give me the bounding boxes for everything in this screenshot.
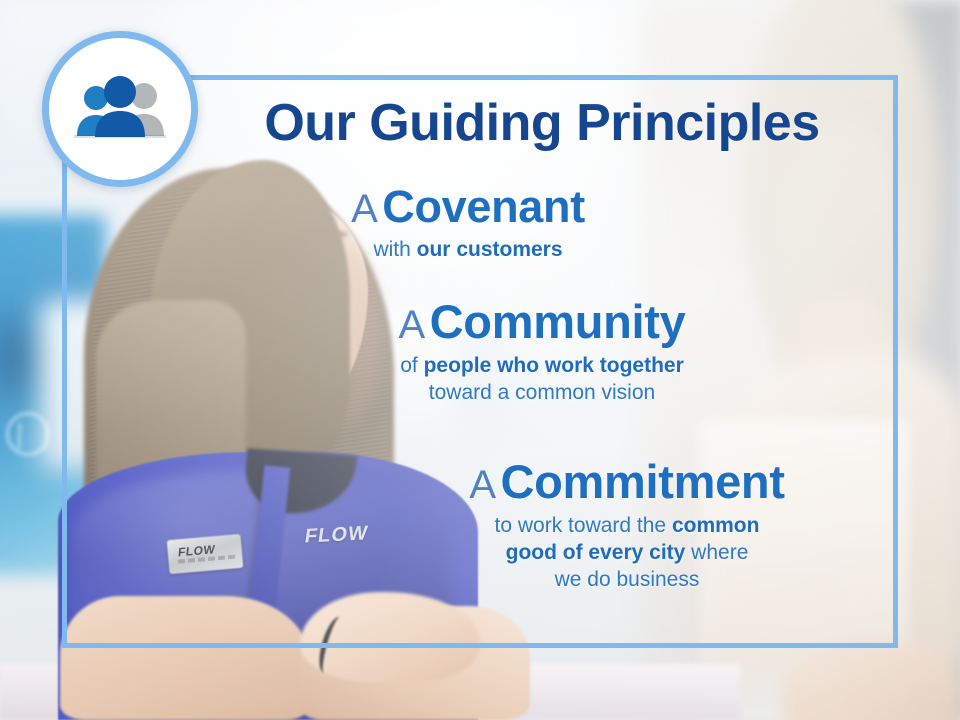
page-title: Our Guiding Principles — [222, 97, 862, 150]
covenant-sub-prefix: with — [373, 238, 416, 261]
commitment-sub-prefix: to work toward the — [495, 514, 672, 537]
people-badge — [42, 31, 198, 187]
commitment-sub-bold-1: common — [672, 514, 760, 537]
principle-covenant-word: Covenant — [382, 181, 585, 232]
community-sub-prefix: of — [400, 354, 423, 377]
principle-covenant-subtext: with our customers — [258, 237, 678, 264]
covenant-sub-bold: our customers — [417, 238, 563, 261]
commitment-sub-line-3: we do business — [555, 568, 700, 591]
principle-community-word: Community — [430, 295, 686, 348]
content-block: Our Guiding Principles A Covenant with o… — [62, 75, 898, 648]
principle-covenant-heading: A Covenant — [258, 183, 678, 231]
commitment-sub-line-2: good of every city where — [506, 541, 749, 564]
guiding-principles-graphic: FLOW FLOW Our Guiding Principles A Coven… — [0, 0, 960, 720]
principle-commitment-word: Commitment — [500, 455, 784, 508]
principle-commitment: A Commitment to work toward the common g… — [392, 457, 862, 593]
community-sub-line-1: of people who work together — [400, 354, 684, 377]
commitment-sub-suffix: where — [685, 541, 748, 564]
principle-covenant-article: A — [351, 187, 378, 231]
principle-commitment-subtext: to work toward the common good of every … — [392, 513, 862, 594]
commitment-sub-line-1: to work toward the common — [495, 514, 760, 537]
principle-community: A Community of people who work together … — [312, 297, 772, 407]
community-sub-line-2: toward a common vision — [429, 381, 655, 404]
principle-commitment-article: A — [469, 463, 496, 507]
principle-community-heading: A Community — [312, 297, 772, 347]
commitment-sub-bold-2: good of every city — [506, 541, 686, 564]
principle-commitment-heading: A Commitment — [392, 457, 862, 507]
people-group-icon — [68, 74, 172, 144]
principle-community-article: A — [399, 303, 426, 347]
principle-covenant: A Covenant with our customers — [258, 183, 678, 264]
community-sub-bold: people who work together — [424, 354, 684, 377]
principle-community-subtext: of people who work together toward a com… — [312, 353, 772, 407]
